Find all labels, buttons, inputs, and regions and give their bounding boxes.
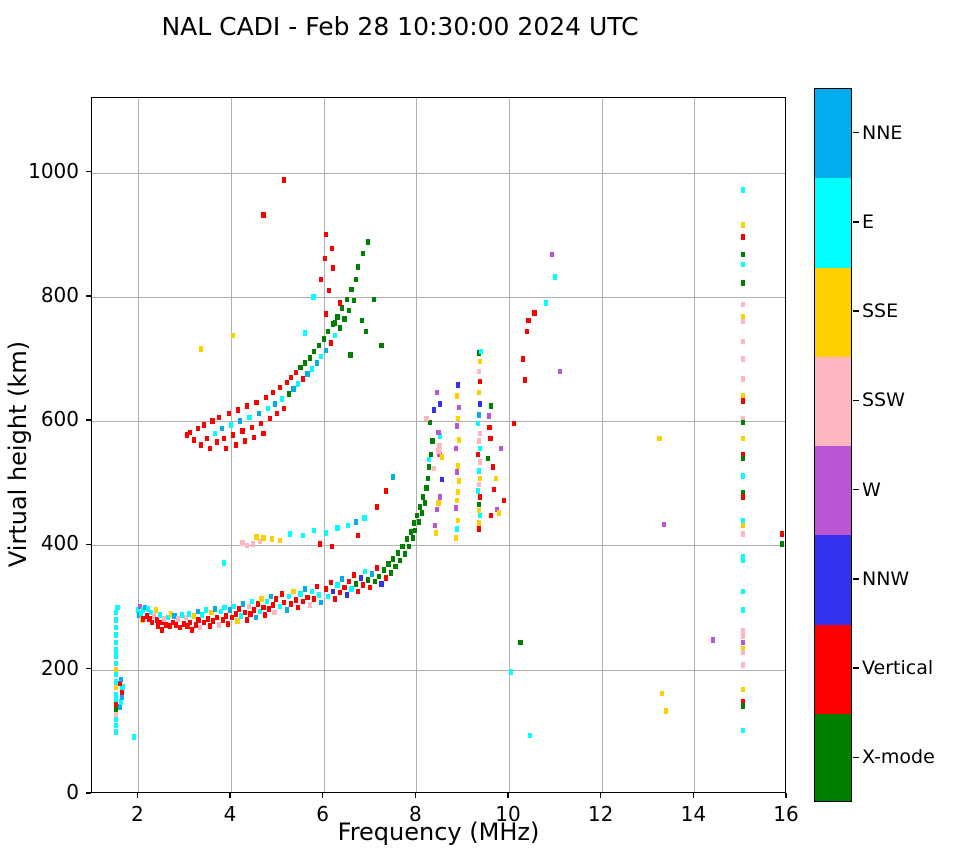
echo-point <box>403 551 407 557</box>
echo-point <box>405 536 409 542</box>
echo-point <box>487 425 491 431</box>
echo-point <box>296 605 300 611</box>
echo-point <box>382 567 386 573</box>
echo-point <box>436 448 440 454</box>
colorbar-tick <box>853 221 859 222</box>
echo-point <box>192 437 196 443</box>
echo-point <box>318 541 322 547</box>
echo-point <box>379 343 383 349</box>
gridline-horizontal <box>92 173 785 174</box>
echo-point <box>421 494 425 500</box>
echo-point <box>187 611 191 617</box>
echo-point <box>478 513 482 519</box>
echo-point <box>190 627 194 633</box>
echo-point <box>227 411 231 417</box>
echo-point <box>741 234 745 240</box>
echo-point <box>303 360 307 366</box>
echo-point <box>278 604 282 610</box>
echo-point <box>391 474 395 480</box>
echo-point <box>234 442 238 448</box>
echo-point <box>285 607 289 613</box>
echo-point <box>741 650 745 656</box>
echo-point <box>271 602 275 608</box>
echo-point <box>261 535 265 541</box>
echo-point <box>202 422 206 428</box>
echo-point <box>345 592 349 598</box>
colorbar <box>814 88 852 802</box>
echo-point <box>550 252 554 258</box>
echo-point <box>456 518 460 524</box>
echo-point <box>208 623 212 629</box>
colorbar-label-x-mode: X-mode <box>862 746 935 768</box>
echo-point <box>287 391 291 397</box>
colorbar-label-nnw: NNW <box>862 568 909 590</box>
echo-point <box>312 349 316 355</box>
echo-point <box>254 534 258 540</box>
echo-point <box>278 385 282 391</box>
echo-point <box>486 456 490 462</box>
echo-point <box>237 606 241 612</box>
colorbar-label-sse: SSE <box>862 300 898 322</box>
echo-point <box>329 340 333 346</box>
echo-point <box>252 435 256 441</box>
echo-point <box>188 620 192 626</box>
echo-point <box>780 541 784 547</box>
echo-point <box>455 393 459 399</box>
echo-point <box>532 310 536 316</box>
echo-point <box>232 604 236 610</box>
colorbar-band-sse <box>815 268 851 358</box>
colorbar-label-vertical: Vertical <box>862 657 933 679</box>
echo-point <box>322 336 326 342</box>
echo-point <box>741 436 745 442</box>
echo-point <box>205 436 209 442</box>
echo-point <box>155 617 159 623</box>
echo-point <box>456 416 460 422</box>
echo-point <box>436 500 440 506</box>
echo-point <box>303 586 307 592</box>
colorbar-tick <box>853 578 859 579</box>
echo-point <box>199 442 203 448</box>
echo-point <box>518 640 522 646</box>
echo-point <box>455 498 459 504</box>
echo-point <box>194 622 198 628</box>
echo-point <box>494 476 498 482</box>
echo-point <box>224 446 228 452</box>
echo-point <box>741 319 745 325</box>
echo-point <box>454 446 458 452</box>
echo-point <box>354 581 358 587</box>
echo-point <box>250 599 254 605</box>
echo-point <box>455 526 459 532</box>
echo-point <box>319 600 323 606</box>
gridline-horizontal <box>92 421 785 422</box>
echo-point <box>315 584 319 590</box>
echo-point <box>457 437 461 443</box>
colorbar-band-nnw <box>815 535 851 625</box>
echo-point <box>188 430 192 436</box>
echo-point <box>415 513 419 519</box>
echo-point <box>363 569 367 575</box>
echo-point <box>240 540 244 546</box>
echo-point <box>303 330 307 336</box>
echo-point <box>308 355 312 361</box>
x-tick-mark <box>693 793 694 798</box>
gridline-vertical <box>416 98 417 792</box>
echo-point <box>423 500 427 506</box>
echo-point <box>509 669 513 675</box>
echo-point <box>478 431 482 437</box>
echo-point <box>271 390 275 396</box>
echo-point <box>407 544 411 550</box>
echo-point <box>335 582 339 588</box>
echo-point <box>384 488 388 494</box>
echo-point <box>120 689 124 695</box>
echo-point <box>433 523 437 529</box>
echo-point <box>521 356 525 362</box>
echo-point <box>324 311 328 317</box>
echo-point <box>432 466 436 472</box>
echo-point <box>289 375 293 381</box>
echo-point <box>114 667 118 673</box>
x-tick-mark <box>785 793 786 798</box>
echo-point <box>741 687 745 693</box>
echo-point <box>288 531 292 537</box>
echo-point <box>324 348 328 354</box>
echo-point <box>330 246 334 252</box>
echo-point <box>234 611 238 617</box>
echo-point <box>741 473 745 479</box>
echo-point <box>224 613 228 619</box>
echo-point <box>370 571 374 577</box>
echo-point <box>333 320 337 326</box>
echo-point <box>294 370 298 376</box>
echo-point <box>220 426 224 432</box>
echo-point <box>222 605 226 611</box>
echo-point <box>373 579 377 585</box>
echo-point <box>215 439 219 445</box>
gridline-vertical <box>138 98 139 792</box>
echo-point <box>231 432 235 438</box>
echo-point <box>354 277 358 283</box>
plot-area <box>91 97 786 793</box>
echo-point <box>477 369 481 375</box>
echo-point <box>308 602 312 608</box>
echo-point <box>115 605 119 611</box>
echo-point <box>427 464 431 470</box>
echo-point <box>118 704 122 710</box>
colorbar-label-e: E <box>862 211 874 233</box>
echo-point <box>217 415 221 421</box>
echo-point <box>361 582 365 588</box>
echo-point <box>360 318 364 324</box>
echo-point <box>317 343 321 349</box>
echo-point <box>456 463 460 469</box>
echo-point <box>335 525 339 531</box>
echo-point <box>301 533 305 539</box>
echo-point <box>119 699 123 705</box>
echo-point <box>345 297 349 303</box>
echo-point <box>301 376 305 382</box>
echo-point <box>477 390 481 396</box>
x-tick-mark <box>137 793 138 798</box>
echo-point <box>324 232 328 238</box>
echo-point <box>741 494 745 500</box>
echo-point <box>158 612 162 618</box>
echo-point <box>741 531 745 537</box>
echo-point <box>333 333 337 339</box>
echo-point <box>427 457 431 463</box>
echo-point <box>264 395 268 401</box>
echo-point <box>741 703 745 709</box>
echo-point <box>361 251 365 257</box>
echo-point <box>660 691 664 697</box>
echo-point <box>243 438 247 444</box>
echo-point <box>477 482 481 488</box>
echo-point <box>396 550 400 556</box>
echo-point <box>114 717 118 723</box>
echo-point <box>457 405 461 411</box>
echo-point <box>417 519 421 525</box>
ionogram-figure: NAL CADI - Feb 28 10:30:00 2024 UTC 2468… <box>0 0 958 857</box>
echo-point <box>215 615 219 621</box>
echo-point <box>741 398 745 404</box>
echo-point <box>114 640 118 646</box>
echo-point <box>319 277 323 283</box>
echo-point <box>379 581 383 587</box>
echo-point <box>210 418 214 424</box>
echo-point <box>200 612 204 618</box>
echo-point <box>478 359 482 365</box>
echo-point <box>291 386 295 392</box>
echo-point <box>245 403 249 409</box>
echo-point <box>305 371 309 377</box>
gridline-horizontal <box>92 545 785 546</box>
echo-point <box>741 376 745 382</box>
echo-point <box>236 407 240 413</box>
echo-point <box>432 407 436 413</box>
echo-point <box>780 531 784 537</box>
echo-point <box>741 728 745 734</box>
echo-point <box>241 601 245 607</box>
colorbar-label-nne: NNE <box>862 122 902 144</box>
y-tick-mark <box>86 171 91 172</box>
colorbar-band-vertical <box>815 625 851 715</box>
echo-point <box>741 523 745 529</box>
echo-point <box>454 505 458 511</box>
echo-point <box>456 382 460 388</box>
echo-point <box>235 618 239 624</box>
echo-point <box>741 607 745 613</box>
echo-point <box>338 300 342 306</box>
echo-point <box>196 609 200 615</box>
echo-point <box>412 520 416 526</box>
echo-point <box>477 508 481 514</box>
echo-point <box>502 498 506 504</box>
echo-point <box>114 697 118 703</box>
echo-point <box>340 576 344 582</box>
echo-point <box>499 446 503 452</box>
echo-point <box>454 535 458 541</box>
echo-point <box>440 477 444 483</box>
echo-point <box>278 538 282 544</box>
echo-point <box>477 520 481 526</box>
echo-point <box>312 528 316 534</box>
echo-point <box>254 400 258 406</box>
echo-point <box>741 339 745 345</box>
echo-point <box>741 222 745 228</box>
echo-point <box>372 297 376 303</box>
colorbar-band-ssw <box>815 357 851 447</box>
echo-point <box>229 422 233 428</box>
colorbar-band-w <box>815 446 851 536</box>
echo-point <box>310 366 314 372</box>
echo-point <box>426 476 430 482</box>
echo-point <box>342 585 346 591</box>
y-tick-mark <box>86 668 91 669</box>
echo-point <box>348 352 352 358</box>
echo-point <box>478 401 482 407</box>
x-axis-label: Frequency (MHz) <box>91 818 786 846</box>
echo-point <box>477 526 481 532</box>
echo-point <box>324 586 328 592</box>
colorbar-band-x-mode <box>815 714 851 802</box>
echo-point <box>741 662 745 668</box>
echo-point <box>132 734 136 740</box>
echo-point <box>119 677 123 683</box>
echo-point <box>741 280 745 286</box>
echo-point <box>478 446 482 452</box>
echo-point <box>662 522 666 528</box>
echo-point <box>386 561 390 567</box>
echo-point <box>347 579 351 585</box>
echo-point <box>160 627 164 633</box>
echo-point <box>455 469 459 475</box>
echo-point <box>352 572 356 578</box>
echo-point <box>420 510 424 516</box>
echo-point <box>437 443 441 449</box>
echo-point <box>424 485 428 491</box>
echo-point <box>268 416 272 422</box>
echo-point <box>114 712 118 718</box>
colorbar-label-ssw: SSW <box>862 389 905 411</box>
colorbar-tick <box>853 400 859 401</box>
echo-point <box>327 288 331 294</box>
echo-point <box>492 487 496 493</box>
echo-point <box>411 535 415 541</box>
gridline-vertical <box>231 98 232 792</box>
echo-point <box>489 403 493 409</box>
echo-point <box>114 672 118 678</box>
echo-point <box>375 565 379 571</box>
gridline-vertical <box>324 98 325 792</box>
colorbar-tick <box>853 667 859 668</box>
colorbar-band-e <box>815 178 851 268</box>
gridline-horizontal <box>92 670 785 671</box>
echo-point <box>338 325 342 331</box>
echo-point <box>294 597 298 603</box>
echo-point <box>275 411 279 417</box>
y-tick-mark <box>86 419 91 420</box>
echo-point <box>400 544 404 550</box>
echo-point <box>114 617 118 623</box>
echo-point <box>359 575 363 581</box>
echo-point <box>274 596 278 602</box>
echo-point <box>435 390 439 396</box>
echo-point <box>741 187 745 193</box>
colorbar-tick <box>853 489 859 490</box>
echo-point <box>741 420 745 426</box>
echo-point <box>310 589 314 595</box>
echo-point <box>478 476 482 482</box>
echo-point <box>305 595 309 601</box>
echo-point <box>657 436 661 442</box>
echo-point <box>231 333 235 339</box>
echo-point <box>741 640 745 646</box>
colorbar-tick <box>853 132 859 133</box>
echo-point <box>435 507 439 513</box>
y-tick-mark <box>86 295 91 296</box>
x-tick-mark <box>600 793 601 798</box>
gridline-vertical <box>694 98 695 792</box>
echo-point <box>226 621 230 627</box>
x-tick-mark <box>322 793 323 798</box>
echo-point <box>114 653 118 659</box>
echo-point <box>317 592 321 598</box>
echo-point <box>497 510 501 516</box>
echo-point <box>280 591 284 597</box>
echo-point <box>456 489 460 495</box>
echo-point <box>311 294 315 300</box>
echo-point <box>252 607 256 613</box>
echo-point <box>289 601 293 607</box>
echo-point <box>335 314 339 320</box>
echo-point <box>198 625 202 631</box>
colorbar-tick <box>853 757 859 758</box>
echo-point <box>256 601 260 607</box>
y-tick-mark <box>86 792 91 793</box>
echo-point <box>477 502 481 508</box>
x-tick-mark <box>507 793 508 798</box>
echo-point <box>391 556 395 562</box>
echo-point <box>349 586 353 592</box>
echo-point <box>222 560 226 566</box>
echo-point <box>296 381 300 387</box>
echo-point <box>457 478 461 484</box>
echo-point <box>349 287 353 293</box>
echo-point <box>354 519 358 525</box>
echo-point <box>525 329 529 335</box>
gridline-horizontal <box>92 297 785 298</box>
echo-point <box>430 438 434 444</box>
echo-point <box>247 604 251 610</box>
echo-point <box>356 264 360 270</box>
echo-point <box>247 415 251 421</box>
echo-point <box>259 596 263 602</box>
y-axis-label: Virtual height (km) <box>4 106 32 802</box>
echo-point <box>254 615 258 621</box>
echo-point <box>477 412 481 418</box>
echo-point <box>120 694 124 700</box>
echo-point <box>282 406 286 412</box>
echo-point <box>544 300 548 306</box>
gridline-vertical <box>509 98 510 792</box>
echo-point <box>512 421 516 427</box>
echo-point <box>238 418 242 424</box>
echo-point <box>440 454 444 460</box>
echo-point <box>664 708 668 714</box>
echo-point <box>251 541 255 547</box>
